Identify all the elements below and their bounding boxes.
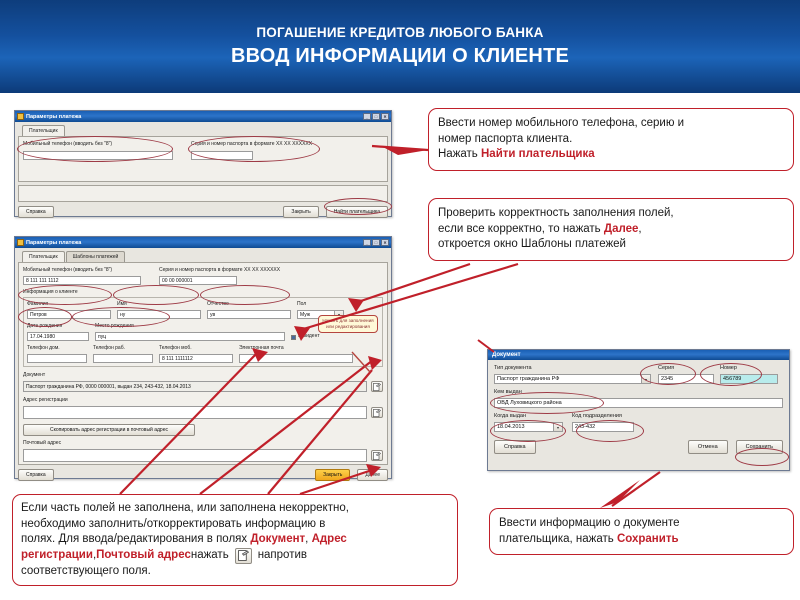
document-type-select-value[interactable]: Паспорт гражданина РФ	[494, 374, 642, 384]
work-phone-input[interactable]	[93, 354, 153, 363]
number-label: Номер	[720, 365, 778, 372]
window-title: Документ	[490, 352, 521, 358]
series-input[interactable]: 2345	[658, 374, 714, 384]
postal-address-label: Почтовый адрес	[23, 440, 383, 447]
callout-line-1: Ввести номер мобильного телефона, серию …	[438, 116, 784, 132]
header-subtitle: ПОГАШЕНИЕ КРЕДИТОВ ЛЮБОГО БАНКА	[0, 24, 800, 41]
document-window[interactable]: Документ Тип документа Паспорт гражданин…	[487, 349, 790, 471]
tab-payment-templates[interactable]: Шаблоны платежей	[66, 251, 126, 262]
document-label: Документ	[23, 372, 383, 379]
calendar-dropdown-icon[interactable]: ▾	[554, 422, 563, 432]
payment-parameters-window-2[interactable]: Параметры платежа _ □ ✕ Плательщик Шабло…	[14, 236, 392, 479]
callout-text-plain: если все корректно, то нажать	[438, 223, 604, 235]
callout-text-plain: полях. Для ввода/редактирования в полях	[21, 533, 250, 545]
tab-payer[interactable]: Плательщик	[22, 251, 65, 262]
passport-series-number-input[interactable]: 00 00 000001	[159, 276, 237, 285]
edit-hint-tooltip: Нажать для заполнения или редактирования	[318, 315, 378, 333]
first-name-input[interactable]: ну	[117, 310, 201, 319]
issued-when-input[interactable]: 18.04.2013	[494, 422, 554, 432]
passport-series-number-input[interactable]	[191, 151, 253, 160]
patronymic-input[interactable]: ув	[207, 310, 291, 319]
callout-line-2: номер паспорта клиента.	[438, 132, 784, 148]
close-button[interactable]: Закрыть	[283, 206, 318, 218]
home-phone-input[interactable]	[27, 354, 87, 363]
callout-text-tail: ,	[638, 223, 641, 235]
tab-payer[interactable]: Плательщик	[22, 125, 65, 136]
callout-line-2: необходимо заполнить/откорректировать ин…	[21, 517, 449, 533]
button-bar: Справка Закрыть Найти плательщика	[18, 206, 388, 218]
app-icon	[17, 113, 24, 120]
help-button[interactable]: Справка	[18, 206, 54, 218]
close-button[interactable]: Закрыть	[315, 469, 350, 481]
payer-panel: Мобильный телефон (вводить без "8") Сери…	[18, 136, 388, 182]
callout-accent-registration: регистрации	[21, 548, 93, 564]
button-bar: Справка Закрыть Далее	[18, 469, 388, 481]
callout-text-press: нажать	[191, 548, 229, 564]
edit-postal-address-icon[interactable]	[371, 450, 383, 461]
copy-address-button[interactable]: Скопировать адрес регистрации в почтовый…	[23, 424, 195, 436]
page-title: ВВОД ИНФОРМАЦИИ О КЛИЕНТЕ	[0, 43, 800, 69]
document-value-field: Паспорт гражданина РФ, 0000 000001, выда…	[23, 381, 367, 392]
page-header: ПОГАШЕНИЕ КРЕДИТОВ ЛЮБОГО БАНКА ВВОД ИНФ…	[0, 0, 800, 93]
callout-line-2: плательщика, нажать Сохранить	[499, 532, 784, 548]
mobile-phone-input[interactable]	[23, 151, 173, 160]
birth-place-label: Место рождения	[95, 323, 285, 330]
tabstrip[interactable]: Плательщик	[18, 125, 388, 136]
callout-accent-document: Документ	[250, 533, 305, 545]
callout-line-3: откроется окно Шаблоны платежей	[438, 237, 784, 253]
sex-label: Пол	[297, 301, 347, 308]
window-titlebar[interactable]: Параметры платежа _ □ ✕	[15, 237, 391, 248]
callout-enter-document-info: Ввести информацию о документе плательщик…	[489, 508, 794, 555]
surname-label: Фамилия	[27, 301, 111, 308]
work-phone-label: Телефон раб.	[93, 345, 153, 352]
number-input[interactable]: 456789	[720, 374, 778, 384]
callout-text-accent: Найти плательщика	[481, 148, 595, 160]
mobile-phone2-input[interactable]: 8 111 1111112	[159, 354, 233, 363]
minimize-icon[interactable]: _	[363, 239, 371, 246]
issued-by-label: Кем выдан	[494, 389, 783, 396]
issued-by-input[interactable]: ОВД Луховицкого района	[494, 398, 783, 408]
first-name-label: Имя	[117, 301, 201, 308]
callout-verify-fields: Проверить корректность заполнения полей,…	[428, 198, 794, 261]
email-label: Электронная почта	[239, 345, 353, 352]
save-button[interactable]: Сохранить	[736, 440, 783, 454]
client-info-section-label: Информация о клиенте	[23, 289, 383, 296]
callout-line-1: Если часть полей не заполнена, или запол…	[21, 501, 449, 517]
issued-when-label: Когда выдан	[494, 413, 564, 420]
birth-place-input[interactable]: пуц	[95, 332, 285, 341]
callout-text-plain: плательщика, нажать	[499, 533, 617, 545]
app-icon	[17, 239, 24, 246]
home-phone-label: Телефон дом.	[27, 345, 87, 352]
window-controls[interactable]: _ □ ✕	[363, 239, 389, 246]
button-bar: Справка Отмена Сохранить	[494, 440, 783, 454]
email-input[interactable]	[239, 354, 353, 363]
callout-line-5: соответствующего поля.	[21, 564, 449, 580]
callout-line-1: Проверить корректность заполнения полей,	[438, 206, 784, 222]
window-titlebar[interactable]: Параметры платежа _ □ ✕	[15, 111, 391, 122]
mobile-phone2-label: Телефон моб.	[159, 345, 233, 352]
help-button[interactable]: Справка	[494, 440, 536, 454]
callout-accent-address: Адрес	[312, 533, 347, 545]
mobile-phone-label: Мобильный телефон (вводить без "8")	[23, 267, 141, 274]
minimize-icon[interactable]: _	[363, 113, 371, 120]
resident-label: Резидент	[298, 333, 320, 340]
callout-text-accent: Далее	[604, 223, 639, 235]
maximize-icon[interactable]: □	[372, 113, 380, 120]
callout-accent-postal-address: Почтовый адрес	[96, 548, 191, 564]
edit-icon-inline	[235, 548, 252, 564]
close-icon[interactable]: ✕	[381, 113, 389, 120]
registration-address-label: Адрес регистрации	[23, 397, 383, 404]
callout-line-4: регистрации, Почтовый адрес нажать напро…	[21, 548, 449, 564]
message-area	[18, 185, 388, 202]
callout-line-3: Нажать Найти плательщика	[438, 147, 784, 163]
close-icon[interactable]: ✕	[381, 239, 389, 246]
postal-address-field	[23, 449, 367, 462]
birth-date-input[interactable]: 17.04.1980	[27, 332, 89, 341]
help-button[interactable]: Справка	[18, 469, 54, 481]
maximize-icon[interactable]: □	[372, 239, 380, 246]
department-code-input[interactable]: 243-432	[572, 422, 634, 432]
surname-input[interactable]: Петров	[27, 310, 111, 319]
passport-series-number-label: Серия и номер паспорта в формате XX XX X…	[159, 267, 359, 274]
find-payer-button[interactable]: Найти плательщика	[326, 206, 388, 218]
callout-text-accent: Сохранить	[617, 533, 679, 545]
window-titlebar[interactable]: Документ	[488, 350, 789, 360]
callout-text-plain: Нажать	[438, 148, 481, 160]
edit-document-icon[interactable]	[371, 381, 383, 392]
payer-form-panel: Мобильный телефон (вводить без "8") 8 11…	[18, 262, 388, 465]
callout-enter-phone-passport: Ввести номер мобильного телефона, серию …	[428, 108, 794, 171]
window-title: Параметры платежа	[26, 240, 81, 246]
mobile-phone-input[interactable]: 8 111 111 1112	[23, 276, 141, 285]
cancel-button[interactable]: Отмена	[688, 440, 728, 454]
passport-series-number-label: Серия и номер паспорта в формате XX XX X…	[191, 141, 359, 148]
callout-line-3: полях. Для ввода/редактирования в полях …	[21, 532, 449, 548]
tabstrip[interactable]: Плательщик Шаблоны платежей	[18, 251, 388, 262]
document-type-label: Тип документа	[494, 365, 652, 372]
registration-address-field	[23, 406, 367, 419]
series-label: Серия	[658, 365, 714, 372]
next-button[interactable]: Далее	[357, 469, 388, 481]
birth-date-label: Дата рождения	[27, 323, 89, 330]
callout-fix-empty-fields: Если часть полей не заполнена, или запол…	[12, 494, 458, 586]
callout-line-2: если все корректно, то нажать Далее,	[438, 222, 784, 238]
window-controls[interactable]: _ □ ✕	[363, 113, 389, 120]
patronymic-label: Отчество	[207, 301, 291, 308]
callout-text-opposite: напротив	[258, 548, 307, 564]
department-code-label: Код подразделения	[572, 413, 634, 420]
chevron-down-icon[interactable]: ▾	[642, 374, 651, 384]
payment-parameters-window-1[interactable]: Параметры платежа _ □ ✕ Плательщик Мобил…	[14, 110, 392, 217]
mobile-phone-label: Мобильный телефон (вводить без "8")	[23, 141, 173, 148]
edit-registration-address-icon[interactable]	[371, 407, 383, 418]
resident-checkbox[interactable]	[291, 335, 296, 340]
callout-line-1: Ввести информацию о документе	[499, 516, 784, 532]
window-title: Параметры платежа	[26, 114, 81, 120]
